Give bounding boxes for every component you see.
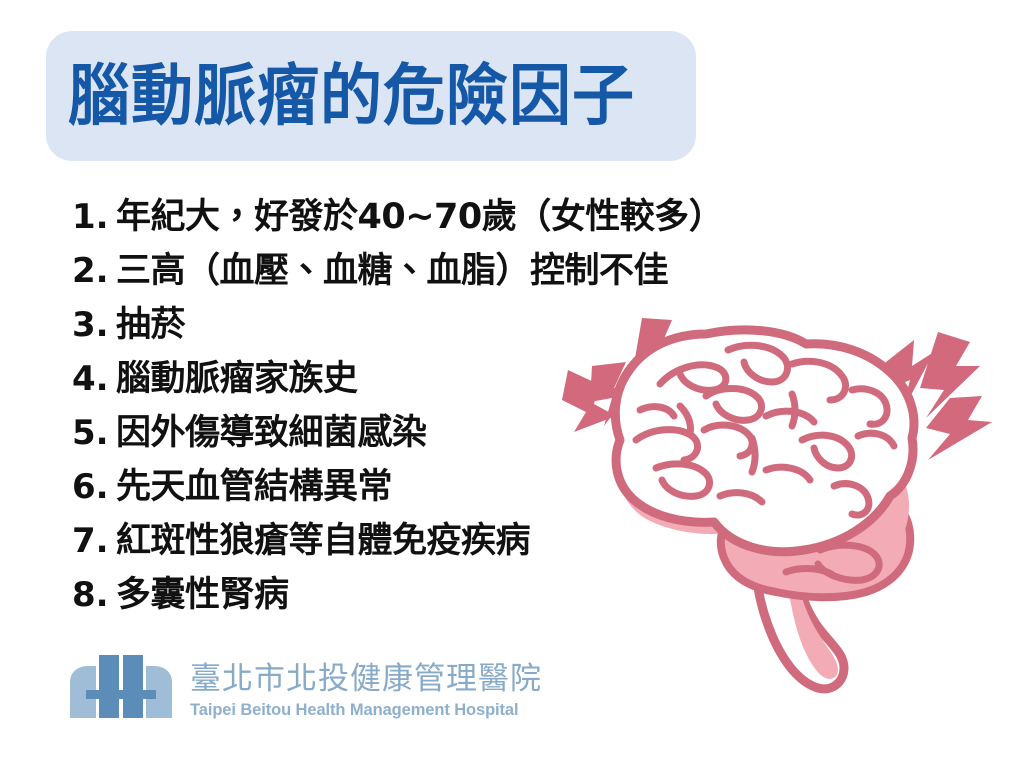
brain-icon (556, 300, 996, 700)
list-item-number: 8. (72, 568, 116, 622)
list-item-label: 腦動脈瘤家族史 (116, 352, 358, 406)
cerebrum-outline (615, 330, 914, 552)
list-item-label: 三高（血壓、血糖、血脂）控制不佳 (116, 244, 668, 298)
list-item-label: 抽菸 (116, 298, 185, 352)
list-item-label: 因外傷導致細菌感染 (116, 406, 427, 460)
list-item-number: 1. (72, 190, 116, 244)
list-item-number: 4. (72, 352, 116, 406)
title-banner: 腦動脈瘤的危險因子 (46, 31, 696, 161)
list-item-number: 7. (72, 514, 116, 568)
list-item-number: 6. (72, 460, 116, 514)
list-item: 1. 年紀大，好發於40~70歲（女性較多） (72, 190, 882, 244)
page-title: 腦動脈瘤的危險因子 (68, 63, 635, 129)
list-item-label: 紅斑性狼瘡等自體免疫疾病 (116, 514, 530, 568)
list-item-label: 先天血管結構異常 (116, 460, 392, 514)
slide-canvas: 腦動脈瘤的危險因子 1. 年紀大，好發於40~70歲（女性較多） 2. 三高（血… (0, 0, 1024, 768)
list-item-number: 5. (72, 406, 116, 460)
list-item-number: 3. (72, 298, 116, 352)
hospital-logo: 臺北市北投健康管理醫院 Taipei Beitou Health Managem… (66, 652, 542, 724)
logo-tower-right (123, 655, 143, 718)
list-item-label: 年紀大，好發於40~70歲（女性較多） (116, 190, 723, 244)
logo-text-block: 臺北市北投健康管理醫院 Taipei Beitou Health Managem… (190, 656, 542, 720)
logo-cross-bar (86, 690, 156, 699)
logo-name-en: Taipei Beitou Health Management Hospital (190, 700, 542, 721)
logo-name-zh: 臺北市北投健康管理醫院 (190, 662, 542, 698)
list-item-number: 2. (72, 244, 116, 298)
brain-illustration (556, 300, 996, 700)
hospital-building-icon (66, 652, 176, 724)
list-item: 2. 三高（血壓、血糖、血脂）控制不佳 (72, 244, 882, 298)
list-item-label: 多囊性腎病 (116, 568, 289, 622)
logo-tower-left (99, 655, 119, 718)
